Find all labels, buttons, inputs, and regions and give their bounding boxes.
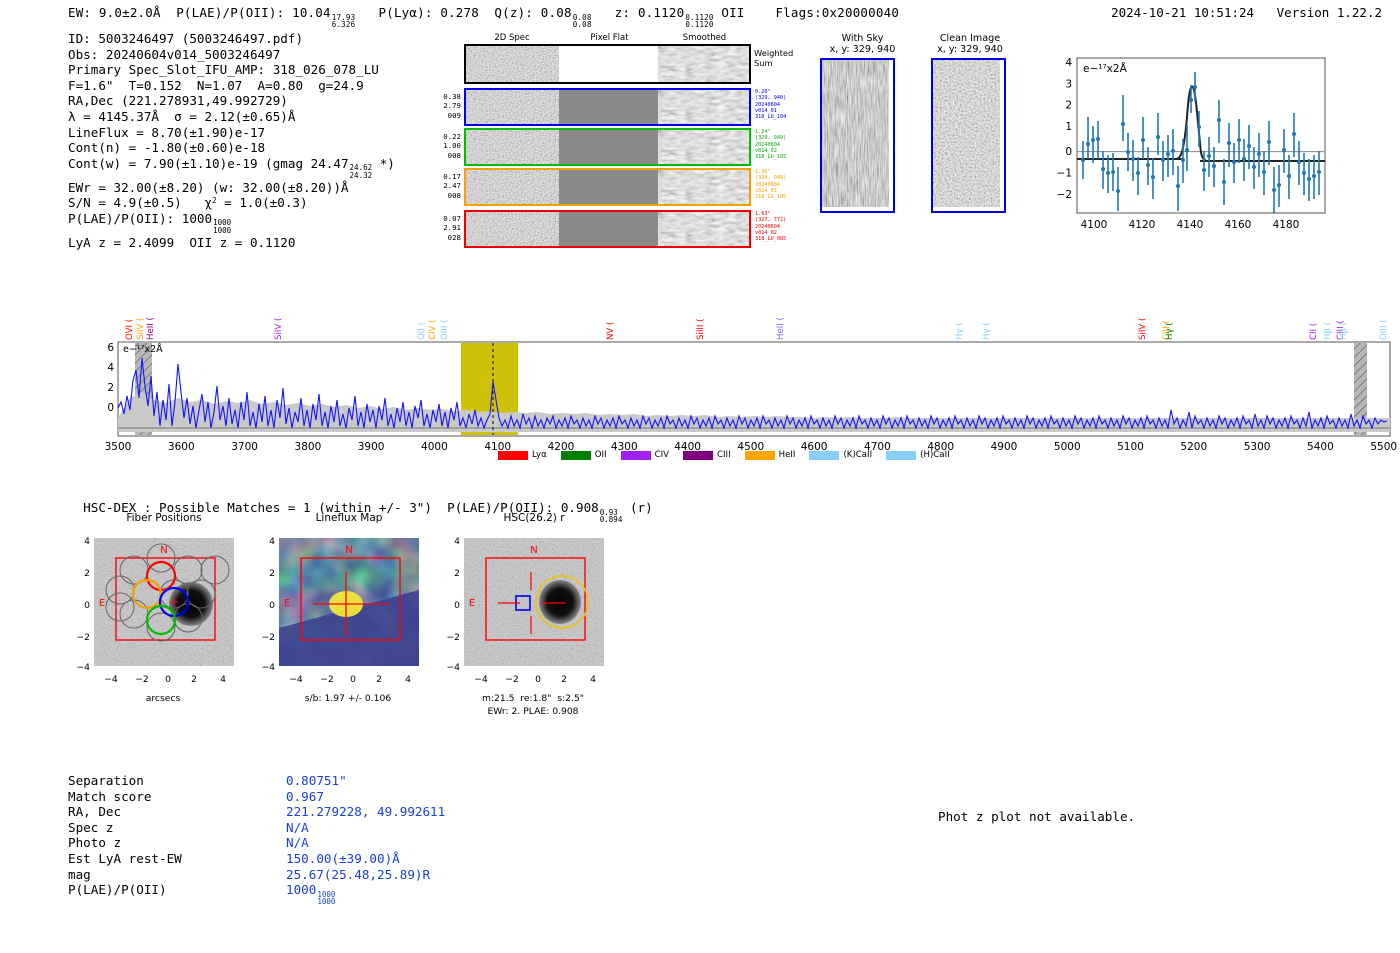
meta-primary: Primary Spec_Slot_IFU_AMP: 318_026_078_L…	[68, 62, 395, 78]
svg-text:2: 2	[84, 568, 90, 579]
svg-text:+: +	[169, 595, 179, 609]
svg-text:4: 4	[107, 362, 114, 374]
svg-text:1: 1	[1065, 121, 1072, 133]
legend-item: OII	[561, 450, 607, 460]
hsc-r-panel: HSC(26.2) r	[430, 512, 630, 524]
emission-line-label: NV (	[606, 300, 616, 340]
meta-lambda: λ = 4145.37Å σ = 2.12(±0.65)Å	[68, 109, 395, 125]
col-title-smoothed: Smoothed	[657, 33, 752, 43]
svg-text:−4: −4	[104, 674, 118, 685]
svg-text:−4: −4	[446, 662, 460, 673]
legend-item: (H)CaII	[886, 450, 950, 460]
svg-text:4: 4	[220, 674, 226, 685]
fiber-row-image	[464, 168, 751, 206]
table-row-value: N/A	[286, 835, 309, 851]
svg-text:4: 4	[1065, 57, 1072, 69]
legend-item: CIV	[621, 450, 669, 460]
clean-image-cutout: Clean Image x, y: 329, 940	[925, 33, 1015, 213]
ew-label: EW:	[68, 5, 91, 20]
version: Version 1.22.2	[1277, 5, 1382, 20]
z-lo: 0.1120	[685, 21, 713, 29]
flags-label: Flags:0x20000040	[775, 5, 899, 20]
table-row-value: 25.67(25.48,25.89)R	[286, 867, 430, 883]
cont-w-post: *)	[380, 156, 395, 171]
svg-text:2: 2	[561, 674, 567, 685]
legend-label: Lyα	[532, 450, 547, 460]
table-row-key: Spec z	[68, 820, 114, 836]
spectrum-svg: 6 4 2 0 e−¹⁷x2Å 350036003700380039004000…	[90, 340, 1400, 465]
hsc-filter: (r)	[630, 500, 653, 515]
svg-text:4: 4	[84, 536, 90, 547]
svg-text:4: 4	[269, 536, 275, 547]
meta-radec: RA,Dec (221.278931,49.992729)	[68, 93, 395, 109]
fiber-positions-caption: arcsecs	[68, 693, 258, 704]
plya-value: 0.278	[440, 5, 479, 20]
spectrum-xtick: 3500	[105, 441, 132, 453]
spectrum-xtick: 4900	[991, 441, 1018, 453]
legend-swatch	[561, 451, 591, 460]
legend-swatch	[683, 451, 713, 460]
legend-swatch	[886, 451, 916, 460]
svg-text:−4: −4	[261, 662, 275, 673]
hsc-r-plot: N E 420 −2−4 −4−20 24	[438, 532, 628, 697]
meta-plae-pre: P(LAE)/P(OII): 1000	[68, 211, 212, 226]
svg-text:3: 3	[1065, 78, 1072, 90]
spectrum-xtick: 5400	[1307, 441, 1334, 453]
emission-line-label: OIII (	[1379, 300, 1389, 340]
emission-line-label: HeII (	[776, 300, 786, 340]
fiber-row-image	[464, 88, 751, 126]
lineflux-map-title: Lineflux Map	[253, 512, 445, 524]
svg-text:−1: −1	[1057, 167, 1072, 179]
full-spectrum-panel: SiIV (OVI (HeII (SiIV (OII (CIV (OIII (N…	[90, 278, 1400, 463]
svg-text:0: 0	[350, 674, 356, 685]
svg-text:−4: −4	[289, 674, 303, 685]
svg-text:4160: 4160	[1225, 219, 1252, 231]
svg-text:−4: −4	[474, 674, 488, 685]
z-label: z:	[615, 5, 630, 20]
col-title-2dspec: 2D Spec	[462, 33, 562, 43]
svg-text:−2: −2	[446, 632, 460, 643]
sn-post: = 1.0(±0.3)	[217, 195, 308, 210]
svg-text:−2: −2	[320, 674, 334, 685]
photz-note: Phot z plot not available.	[938, 809, 1135, 824]
legend-swatch	[498, 451, 528, 460]
with-sky-cutout: With Sky x, y: 329, 940	[820, 33, 905, 213]
spectrum-xtick: 4000	[421, 441, 448, 453]
fiber-row-right-label: 0.26" (329, 940) 20240604 v014_01 318_LU…	[755, 89, 786, 120]
legend-label: (K)CaII	[843, 450, 872, 460]
emission-line-label: Hγ (	[982, 300, 992, 340]
svg-text:2: 2	[1065, 100, 1072, 112]
emission-line-label: HeII (	[146, 300, 156, 340]
fiber-row-1-svg	[466, 90, 749, 124]
lineflux-map-plot: N E 420 −2−4 −4−20 24	[253, 532, 443, 697]
hsc-r-caption: m:21.5 re:1.8" s:2.5" EWr: 2. PLAE: 0.90…	[438, 693, 628, 718]
svg-text:0: 0	[1065, 146, 1072, 158]
svg-text:6: 6	[107, 342, 114, 354]
clean-image-image	[931, 58, 1006, 213]
legend-label: HeII	[779, 450, 796, 460]
fiber-row-4-svg	[466, 212, 749, 246]
compass-e: E	[469, 598, 475, 609]
weighted-sum-image	[466, 46, 749, 82]
meta-id: ID: 5003246497 (5003246497.pdf)	[68, 31, 395, 47]
fiber-positions-plot: + N E 420 −2−4 −4−20 24	[68, 532, 258, 697]
svg-text:0: 0	[84, 600, 90, 611]
emission-line-labels: SiIV (OVI (HeII (SiIV (OII (CIV (OIII (N…	[90, 278, 1400, 340]
qz-value: 0.08	[541, 5, 572, 20]
z-species: OII	[721, 5, 744, 20]
emission-line-label: CII (	[1309, 300, 1319, 340]
compass-n: N	[160, 545, 167, 556]
datetime: 2024-10-21 10:51:24	[1111, 5, 1254, 20]
emission-line-label: CIV (	[428, 300, 438, 340]
fiber-positions-panel: Fiber Positions	[60, 512, 260, 524]
svg-text:4: 4	[405, 674, 411, 685]
metadata-block: ID: 5003246497 (5003246497.pdf) Obs: 202…	[68, 31, 395, 250]
lineflux-map-panel: Lineflux Map	[245, 512, 445, 524]
table-row-key: Photo z	[68, 835, 121, 851]
compass-e: E	[284, 598, 290, 609]
fiber-row-right-label: 1.24" (329, 949) 20240604 v014_02 318_LU…	[755, 129, 786, 160]
spectrum-xtick: 3800	[295, 441, 322, 453]
svg-text:−2: −2	[135, 674, 149, 685]
legend-label: CIII	[717, 450, 731, 460]
meta-cont-w: Cont(w) = 7.90(±1.10)e-19 (gmag 24.4724.…	[68, 156, 395, 180]
cont-w-lo: 24.32	[350, 172, 373, 180]
svg-text:0: 0	[165, 674, 171, 685]
table-row-key: mag	[68, 867, 91, 883]
col-title-pixelflat: Pixel Flat	[562, 33, 657, 43]
svg-text:2: 2	[454, 568, 460, 579]
spectrum-xtick: 5000	[1054, 441, 1081, 453]
legend-item: Lyα	[498, 450, 547, 460]
fiber-row-left-label: 0.07 2.91 028	[435, 214, 461, 242]
qz-label: Q(z):	[494, 5, 533, 20]
svg-text:4120: 4120	[1129, 219, 1156, 231]
svg-text:2: 2	[191, 674, 197, 685]
fiber-row-right-label: 1.63" (327, 772) 20240604 v014_02 318_LU…	[755, 211, 786, 242]
plae-lo: 6.326	[332, 21, 356, 29]
table-plae-lo: 1000	[317, 898, 335, 906]
legend-swatch	[745, 451, 775, 460]
meta-cont-n: Cont(n) = -1.80(±0.60)e-18	[68, 140, 395, 156]
hsc-r-title: HSC(26.2) r	[438, 512, 630, 524]
legend-label: CIV	[655, 450, 669, 460]
legend-label: OII	[595, 450, 607, 460]
clean-image-title: Clean Image	[925, 33, 1015, 44]
legend-item: CIII	[683, 450, 731, 460]
table-row-value: N/A	[286, 820, 309, 836]
qz-lo: 0.08	[573, 21, 592, 29]
fiber-row-image	[464, 210, 751, 248]
legend-swatch	[621, 451, 651, 460]
emission-line-label: Hβ (	[1339, 282, 1349, 340]
compass-n: N	[345, 545, 352, 556]
compass-e: E	[99, 598, 105, 609]
compass-n: N	[530, 545, 537, 556]
plae-label: P(LAE)/P(OII):	[176, 5, 284, 20]
weighted-sum-label: Weighted Sum	[754, 48, 793, 68]
table-row-key: P(LAE)/P(OII)	[68, 882, 167, 898]
emission-line-label: Hβ (	[1323, 300, 1333, 340]
svg-text:−2: −2	[1057, 189, 1072, 201]
spectrum-xtick: 3700	[231, 441, 258, 453]
fiber-positions-title: Fiber Positions	[68, 512, 260, 524]
line-fit-svg: 4 3 2 1 0 −1 −2 4100 4120 4140 4160 4180…	[1035, 55, 1330, 245]
legend-item: (K)CaII	[809, 450, 872, 460]
spectrum-xtick: 5500	[1370, 441, 1397, 453]
spectrum-xtick: 3900	[358, 441, 385, 453]
table-row-key: Est LyA rest-EW	[68, 851, 182, 867]
table-row-value: 150.00(±39.00)Å	[286, 851, 400, 867]
clean-image-coords: x, y: 329, 940	[925, 44, 1015, 55]
emission-line-label: Hγ (	[955, 300, 965, 340]
svg-text:−2: −2	[261, 632, 275, 643]
svg-text:4140: 4140	[1177, 219, 1204, 231]
with-sky-title: With Sky	[820, 33, 905, 44]
svg-text:4100: 4100	[1081, 219, 1108, 231]
spectrum-xtick: 5200	[1180, 441, 1207, 453]
fiber-row-left-label: 0.22 1.00 008	[435, 132, 461, 160]
svg-text:2: 2	[107, 382, 114, 394]
timestamp-version: 2024-10-21 10:51:24 Version 1.22.2	[1111, 5, 1382, 20]
sn-pre: S/N = 4.9(±0.5)	[68, 195, 204, 210]
fiber-row-right-label: 1.36" (329, 948) 20240604 v014_03 318_LU…	[755, 169, 786, 200]
spectrum-xtick: 5300	[1244, 441, 1271, 453]
table-row-value: 221.279228, 49.992611	[286, 804, 445, 820]
chi-symbol: χ	[204, 195, 212, 210]
svg-text:2: 2	[269, 568, 275, 579]
fiber-row-2-svg	[466, 130, 749, 164]
meta-sn: S/N = 4.9(±0.5) χ2 = 1.0(±0.3)	[68, 195, 395, 211]
cont-w-pre: Cont(w) = 7.90(±1.10)e-19 (gmag 24.47	[68, 156, 349, 171]
fiber-row-left-label: 0.38 2.79 009	[435, 92, 461, 120]
meta-plae: P(LAE)/P(OII): 100010001000	[68, 211, 395, 235]
svg-text:4: 4	[454, 536, 460, 547]
svg-text:2: 2	[376, 674, 382, 685]
meta-lineflux: LineFlux = 8.70(±1.90)e-17	[68, 125, 395, 141]
emission-line-label: SiIV (	[1138, 300, 1148, 340]
svg-text:0: 0	[269, 600, 275, 611]
with-sky-image	[820, 58, 895, 213]
weighted-sum-strip	[464, 44, 751, 84]
svg-text:0: 0	[535, 674, 541, 685]
table-row-key: Separation	[68, 773, 144, 789]
table-row-key: Match score	[68, 789, 151, 805]
legend-label: (H)CaII	[920, 450, 950, 460]
spectrum-xtick: 5100	[1117, 441, 1144, 453]
line-fit-plot: 4 3 2 1 0 −1 −2 4100 4120 4140 4160 4180…	[1035, 55, 1330, 245]
fiber-row-image	[464, 128, 751, 166]
emission-line-label: OVI (	[125, 300, 135, 340]
emission-line-label: SiIV (	[136, 282, 146, 340]
svg-text:4180: 4180	[1273, 219, 1300, 231]
emission-line-label: SiIV (	[274, 300, 284, 340]
svg-text:−4: −4	[76, 662, 90, 673]
table-row-value: 0.80751"	[286, 773, 347, 789]
ew-value: 9.0±2.0Å	[99, 5, 161, 20]
lineflux-map-caption: s/b: 1.97 +/- 0.106	[253, 693, 443, 704]
meta-obs: Obs: 20240604v014_5003246497	[68, 47, 395, 63]
svg-text:4: 4	[590, 674, 596, 685]
svg-text:−2: −2	[505, 674, 519, 685]
table-row-value: 100010001000	[286, 882, 335, 906]
summary-header: EW: 9.0±2.0Å P(LAE)/P(OII): 10.0417.936.…	[68, 5, 899, 29]
meta-ewr: EWr = 32.00(±8.20) (w: 32.00(±8.20))Å	[68, 180, 395, 196]
table-row-key: RA, Dec	[68, 804, 121, 820]
svg-text:−2: −2	[76, 632, 90, 643]
fiber-row-3-svg	[466, 170, 749, 204]
z-value: 0.1120	[638, 5, 684, 20]
legend-swatch	[809, 451, 839, 460]
emission-line-label: OII (	[417, 300, 427, 340]
plya-label: P(Lyα):	[379, 5, 433, 20]
spectrum-yunit: e−¹⁷x2Å	[123, 343, 163, 355]
svg-text:0: 0	[107, 402, 114, 414]
emission-line-label: SiIII (	[696, 300, 706, 340]
spectrum-xtick: 3600	[168, 441, 195, 453]
meta-plae-lo: 1000	[213, 227, 231, 235]
spectrum-legend: LyαOIICIVCIIIHeII(K)CaII(H)CaII	[498, 450, 950, 460]
legend-item: HeII	[745, 450, 796, 460]
fiber-rows: 0.38 2.79 009 0.26" (329, 940) 20240604 …	[435, 88, 765, 248]
emission-line-label: Hγ (	[1165, 300, 1175, 340]
fiber-row-left-label: 0.17 2.47 008	[435, 172, 461, 200]
with-sky-coords: x, y: 329, 940	[820, 44, 905, 55]
plae-value: 10.04	[292, 5, 331, 20]
meta-seeing: F=1.6" T=0.152 N=1.07 A=0.80 g=24.9	[68, 78, 395, 94]
svg-text:0: 0	[454, 600, 460, 611]
table-row-value: 0.967	[286, 789, 324, 805]
meta-z: LyA z = 2.4099 OII z = 0.1120	[68, 235, 395, 251]
emission-line-label: OIII (	[440, 300, 450, 340]
fit-plot-yunit: e−¹⁷x2Å	[1083, 62, 1128, 75]
